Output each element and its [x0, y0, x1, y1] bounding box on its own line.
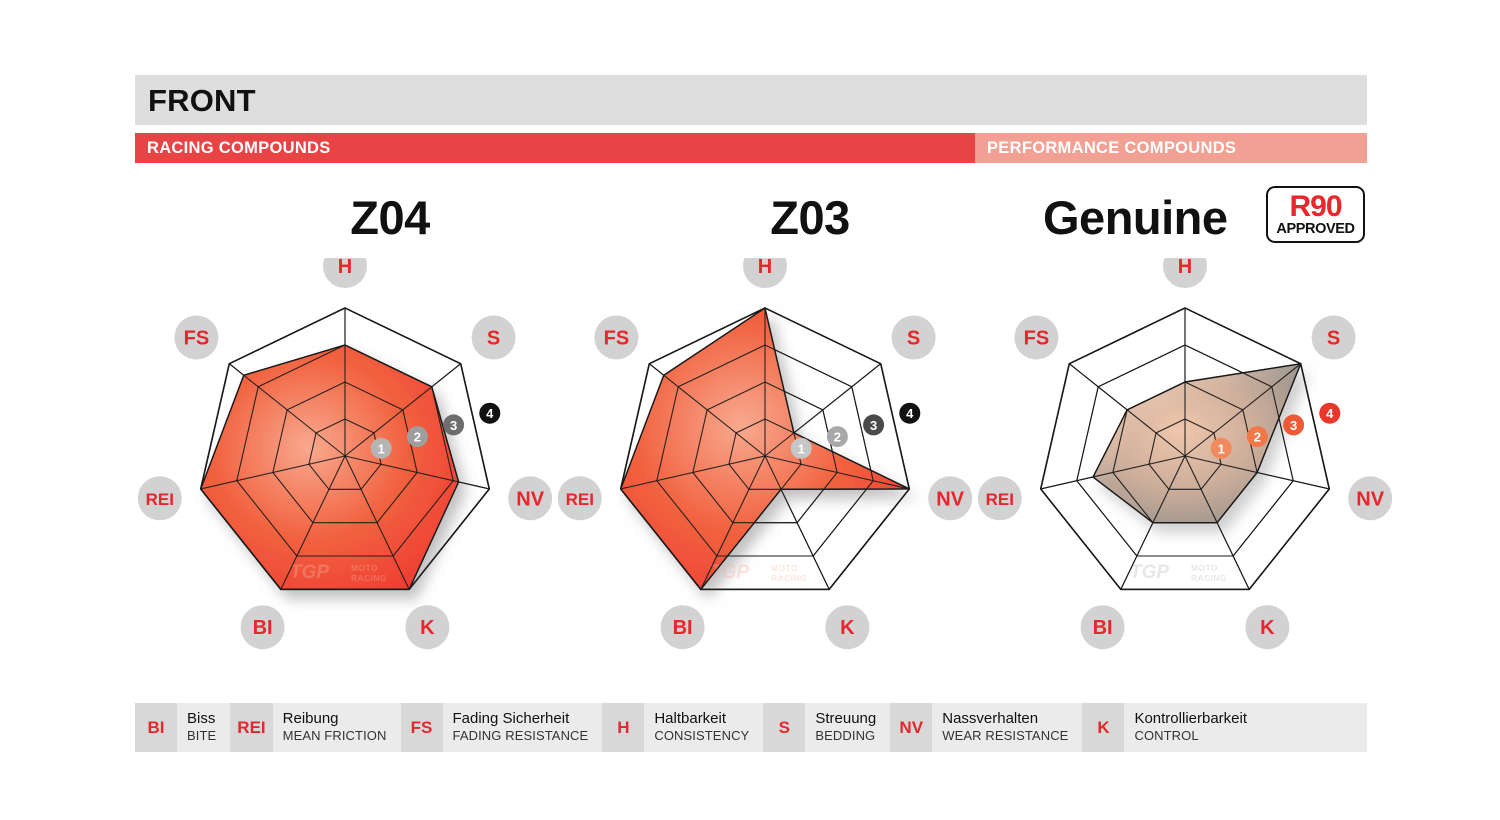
- radar-svg: TGPMOTORACING1234HSNVKBIREIFS: [555, 258, 975, 668]
- svg-text:RACING: RACING: [1191, 573, 1227, 583]
- legend-item-key: FS: [401, 703, 443, 752]
- axis-label-s: S: [892, 316, 936, 360]
- scale-badge-1: 1: [791, 438, 812, 459]
- axis-label-k: K: [825, 605, 869, 649]
- axis-label-k: K: [405, 605, 449, 649]
- legend-label-de: Haltbarkeit: [654, 711, 749, 728]
- legend-label-en: BEDDING: [815, 728, 876, 744]
- axis-label-fs: FS: [594, 316, 638, 360]
- svg-text:H: H: [338, 258, 352, 278]
- category-performance-compounds: PERFORMANCE COMPOUNDS: [975, 133, 1367, 163]
- legend-key-label: REI: [237, 719, 265, 736]
- legend-item: FSFading SicherheitFADING RESISTANCE: [401, 703, 603, 752]
- scale-badge-1: 1: [371, 438, 392, 459]
- scale-badge-3: 3: [863, 414, 884, 435]
- svg-text:BI: BI: [673, 617, 693, 639]
- category-bar: RACING COMPOUNDS PERFORMANCE COMPOUNDS: [135, 133, 1367, 163]
- legend-item-text: NassverhaltenWEAR RESISTANCE: [932, 703, 1082, 752]
- svg-text:4: 4: [906, 406, 914, 421]
- legend-label-de: Fading Sicherheit: [453, 711, 589, 728]
- page-root: FRONT RACING COMPOUNDS PERFORMANCE COMPO…: [0, 0, 1500, 820]
- compound-titles: Z04 Z03 Genuine R90 APPROVED: [135, 186, 1367, 248]
- axis-label-bi: BI: [661, 605, 705, 649]
- legend-label-en: MEAN FRICTION: [283, 728, 387, 744]
- svg-text:MOTO: MOTO: [351, 563, 378, 573]
- radar-grid-overlay: [1041, 308, 1330, 589]
- svg-text:H: H: [1178, 258, 1192, 278]
- legend-key-label: NV: [899, 719, 923, 736]
- page-title: FRONT: [135, 85, 256, 116]
- legend-item-text: Fading SicherheitFADING RESISTANCE: [443, 703, 603, 752]
- axis-label-k: K: [1245, 605, 1289, 649]
- scale-badge-3: 3: [443, 414, 464, 435]
- scale-badge-2: 2: [827, 426, 848, 447]
- axis-label-bi: BI: [241, 605, 285, 649]
- svg-text:3: 3: [450, 418, 457, 433]
- axis-label-rei: REI: [138, 476, 182, 520]
- legend-item: HHaltbarkeitCONSISTENCY: [602, 703, 763, 752]
- legend-item-text: KontrollierbarkeitCONTROL: [1124, 703, 1261, 752]
- legend-bar: BIBissBITEREIReibungMEAN FRICTIONFSFadin…: [135, 703, 1367, 752]
- svg-text:3: 3: [870, 418, 877, 433]
- legend-item-text: StreuungBEDDING: [805, 703, 890, 752]
- axis-label-h: H: [1163, 258, 1207, 288]
- svg-text:FS: FS: [604, 328, 630, 350]
- scale-badge-4: 4: [1319, 403, 1340, 424]
- svg-text:NV: NV: [1356, 488, 1384, 510]
- legend-item-key: H: [602, 703, 644, 752]
- scale-badge-4: 4: [899, 403, 920, 424]
- legend-label-en: CONSISTENCY: [654, 728, 749, 744]
- svg-text:4: 4: [1326, 406, 1334, 421]
- category-racing-compounds: RACING COMPOUNDS: [135, 133, 975, 163]
- scale-badge-1: 1: [1211, 438, 1232, 459]
- legend-label-de: Streuung: [815, 711, 876, 728]
- radar-svg: TGPMOTORACING1234HSNVKBIREIFS: [135, 258, 555, 668]
- legend-item: NVNassverhaltenWEAR RESISTANCE: [890, 703, 1082, 752]
- axis-label-nv: NV: [928, 476, 972, 520]
- legend-item: REIReibungMEAN FRICTION: [230, 703, 400, 752]
- legend-item: KKontrollierbarkeitCONTROL: [1082, 703, 1261, 752]
- tgp-watermark: TGPMOTORACING: [1130, 562, 1227, 583]
- svg-text:BI: BI: [253, 617, 273, 639]
- legend-label-en: CONTROL: [1134, 728, 1247, 744]
- category-racing-label: RACING COMPOUNDS: [135, 139, 331, 158]
- axis-label-rei: REI: [558, 476, 602, 520]
- svg-text:TGP: TGP: [710, 562, 749, 583]
- svg-text:K: K: [840, 617, 855, 639]
- svg-text:RACING: RACING: [351, 573, 387, 583]
- svg-text:2: 2: [834, 430, 841, 445]
- axis-label-fs: FS: [1014, 316, 1058, 360]
- radar-chart-z04: TGPMOTORACING1234HSNVKBIREIFS: [135, 258, 555, 668]
- legend-item-text: BissBITE: [177, 703, 230, 752]
- svg-text:S: S: [487, 328, 500, 350]
- svg-text:TGP: TGP: [290, 562, 329, 583]
- axis-label-h: H: [323, 258, 367, 288]
- axis-label-s: S: [472, 316, 516, 360]
- legend-label-de: Reibung: [283, 711, 387, 728]
- legend-item-key: S: [763, 703, 805, 752]
- radar-charts-container: TGPMOTORACING1234HSNVKBIREIFS TGPMOTORAC…: [135, 258, 1367, 668]
- svg-text:1: 1: [1218, 441, 1225, 456]
- svg-text:NV: NV: [516, 488, 544, 510]
- radar-chart-z03: TGPMOTORACING1234HSNVKBIREIFS: [555, 258, 975, 668]
- svg-text:3: 3: [1290, 418, 1297, 433]
- radar-svg: TGPMOTORACING1234HSNVKBIREIFS: [975, 258, 1395, 668]
- legend-item: BIBissBITE: [135, 703, 230, 752]
- svg-text:RACING: RACING: [771, 573, 807, 583]
- legend-key-label: H: [617, 719, 629, 736]
- legend-item-key: BI: [135, 703, 177, 752]
- legend-key-label: FS: [411, 719, 433, 736]
- compound-title-z04: Z04: [250, 186, 530, 248]
- svg-text:K: K: [420, 617, 435, 639]
- legend-label-en: WEAR RESISTANCE: [942, 728, 1068, 744]
- radar-grid-overlay: [621, 308, 910, 589]
- legend-item: SStreuungBEDDING: [763, 703, 890, 752]
- axis-label-s: S: [1312, 316, 1356, 360]
- svg-text:MOTO: MOTO: [771, 563, 798, 573]
- r90-badge-title: R90: [1289, 193, 1341, 221]
- r90-badge-subtitle: APPROVED: [1276, 222, 1354, 237]
- legend-key-label: K: [1097, 719, 1109, 736]
- svg-text:REI: REI: [146, 490, 174, 509]
- svg-text:2: 2: [414, 430, 421, 445]
- r90-approved-badge: R90 APPROVED: [1266, 186, 1365, 243]
- axis-label-rei: REI: [978, 476, 1022, 520]
- axis-label-bi: BI: [1081, 605, 1125, 649]
- tgp-watermark: TGPMOTORACING: [710, 562, 807, 583]
- legend-item-text: HaltbarkeitCONSISTENCY: [644, 703, 763, 752]
- svg-text:4: 4: [486, 406, 494, 421]
- svg-text:MOTO: MOTO: [1191, 563, 1218, 573]
- axis-label-h: H: [743, 258, 787, 288]
- svg-text:S: S: [907, 328, 920, 350]
- scale-badge-2: 2: [1247, 426, 1268, 447]
- scale-badge-2: 2: [407, 426, 428, 447]
- legend-label-en: FADING RESISTANCE: [453, 728, 589, 744]
- axis-label-fs: FS: [174, 316, 218, 360]
- legend-label-en: BITE: [187, 728, 216, 744]
- svg-text:1: 1: [798, 441, 805, 456]
- legend-label-de: Kontrollierbarkeit: [1134, 711, 1247, 728]
- axis-label-nv: NV: [508, 476, 552, 520]
- svg-text:REI: REI: [986, 490, 1014, 509]
- svg-text:H: H: [758, 258, 772, 278]
- legend-key-label: S: [779, 719, 790, 736]
- legend-label-de: Nassverhalten: [942, 711, 1068, 728]
- legend-item-key: REI: [230, 703, 272, 752]
- section-title-bar: FRONT: [135, 75, 1367, 125]
- svg-text:K: K: [1260, 617, 1275, 639]
- svg-text:TGP: TGP: [1130, 562, 1169, 583]
- legend-key-label: BI: [148, 719, 165, 736]
- category-performance-label: PERFORMANCE COMPOUNDS: [975, 139, 1236, 158]
- svg-text:1: 1: [378, 441, 385, 456]
- legend-item-key: NV: [890, 703, 932, 752]
- svg-text:BI: BI: [1093, 617, 1113, 639]
- svg-text:S: S: [1327, 328, 1340, 350]
- scale-badge-4: 4: [479, 403, 500, 424]
- scale-badge-3: 3: [1283, 414, 1304, 435]
- svg-text:NV: NV: [936, 488, 964, 510]
- legend-label-de: Biss: [187, 711, 216, 728]
- svg-text:REI: REI: [566, 490, 594, 509]
- svg-text:FS: FS: [1024, 328, 1050, 350]
- compound-title-z03: Z03: [670, 186, 950, 248]
- legend-item-text: ReibungMEAN FRICTION: [273, 703, 401, 752]
- axis-label-nv: NV: [1348, 476, 1392, 520]
- svg-text:FS: FS: [184, 328, 210, 350]
- legend-item-key: K: [1082, 703, 1124, 752]
- svg-text:2: 2: [1254, 430, 1261, 445]
- radar-chart-genuine: TGPMOTORACING1234HSNVKBIREIFS: [975, 258, 1395, 668]
